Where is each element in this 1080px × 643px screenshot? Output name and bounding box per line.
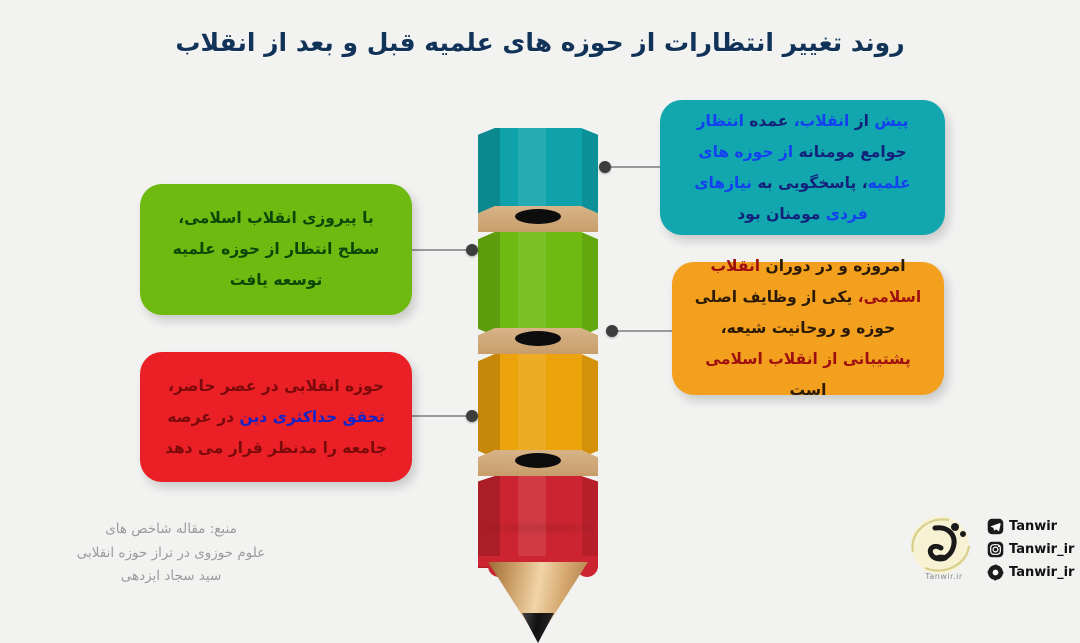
pencil-wood-band-teal xyxy=(478,206,598,232)
connector-dot-orange xyxy=(606,325,618,337)
source-credit: منبع: مقاله شاخص های علوم حوزوی در تراز … xyxy=(26,518,316,589)
pencil-ground-shadow xyxy=(470,520,610,536)
social-instagram[interactable]: Tanwir_ir xyxy=(987,541,1074,558)
callout-box-teal: پیش از انقلاب، عمده انتظار جوامع مومنانه… xyxy=(660,100,945,235)
pencil-segment-green xyxy=(478,232,598,336)
page-title: روند تغییر انتظارات از حوزه های علمیه قب… xyxy=(0,28,1080,57)
social-aparat-handle: Tanwir_ir xyxy=(1009,566,1074,579)
callout-box-green: با پیروزی انقلاب اسلامی، سطح انتظار از ح… xyxy=(140,184,412,315)
infographic-canvas: روند تغییر انتظارات از حوزه های علمیه قب… xyxy=(0,0,1080,608)
pencil-graphite-tip xyxy=(522,613,554,643)
social-telegram[interactable]: Tanwir xyxy=(987,518,1057,535)
connector-dot-green xyxy=(466,244,478,256)
branding-block: Tanwir.ir Tanwir Tanwir_ir xyxy=(905,508,1070,592)
callout-box-orange: امروزه و در دوران انقلاب اسلامی، یکی از … xyxy=(672,262,944,395)
brand-logo: Tanwir.ir xyxy=(905,512,983,584)
connector-line-green xyxy=(410,249,472,251)
source-line-1: منبع: مقاله شاخص های xyxy=(26,518,316,542)
callout-box-red: حوزه انقلابی در عصر حاضر، تحقق حداکثری د… xyxy=(140,352,412,482)
instagram-icon xyxy=(987,541,1004,558)
social-aparat[interactable]: Tanwir_ir xyxy=(987,564,1074,581)
social-telegram-handle: Tanwir xyxy=(1009,520,1057,533)
pencil-graphic xyxy=(478,110,598,530)
pencil-wood-band-yellow xyxy=(478,450,598,476)
callout-text-green: با پیروزی انقلاب اسلامی، سطح انتظار از ح… xyxy=(160,203,392,296)
source-line-2: علوم حوزوی در تراز حوزه انقلابی xyxy=(26,542,316,566)
source-line-3: سید سجاد ایزدهی xyxy=(26,565,316,589)
telegram-icon xyxy=(987,518,1004,535)
callout-text-orange: امروزه و در دوران انقلاب اسلامی، یکی از … xyxy=(692,251,924,406)
pencil-wood-band-green xyxy=(478,328,598,354)
connector-line-orange xyxy=(612,330,674,332)
callout-text-red: حوزه انقلابی در عصر حاضر، تحقق حداکثری د… xyxy=(160,371,392,464)
connector-line-red xyxy=(410,415,472,417)
connector-dot-teal xyxy=(599,161,611,173)
brand-logo-caption: Tanwir.ir xyxy=(905,572,983,581)
connector-dot-red xyxy=(466,410,478,422)
aparat-icon xyxy=(987,564,1004,581)
pencil-segment-yellow xyxy=(478,354,598,458)
callout-text-teal: پیش از انقلاب، عمده انتظار جوامع مومنانه… xyxy=(680,106,925,230)
connector-line-teal xyxy=(605,166,663,168)
social-instagram-handle: Tanwir_ir xyxy=(1009,543,1074,556)
